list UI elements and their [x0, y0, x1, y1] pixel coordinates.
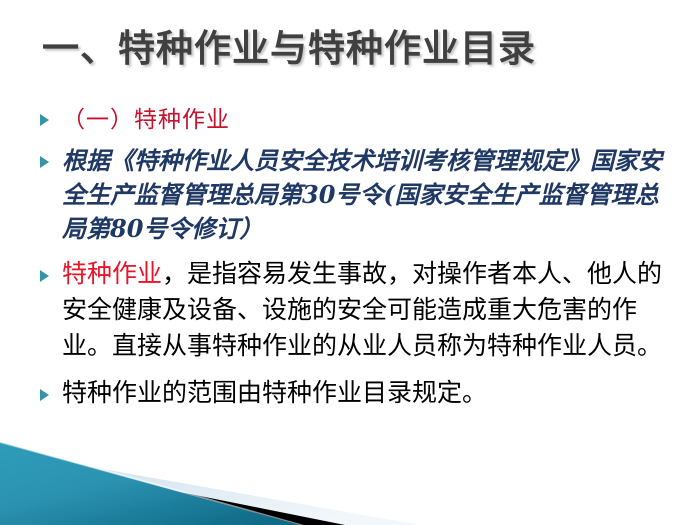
page-title: 一、特种作业与特种作业目录 [42, 26, 662, 72]
triangle-bullet-icon [40, 114, 49, 126]
scope-note-text: 特种作业的范围由特种作业目录规定。 [62, 379, 487, 407]
regulation-citation-text: 根据《特种作业人员安全技术培训考核管理规定》国家安全生产监督管理总局第30号令(… [62, 144, 662, 246]
triangle-bullet-icon [40, 270, 49, 282]
teal-edge-highlight [0, 440, 304, 525]
list-item: 根据《特种作业人员安全技术培训考核管理规定》国家安全生产监督管理总局第30号令(… [0, 144, 700, 246]
definition-emphasis: 特种作业 [62, 260, 162, 288]
black-diagonal-stripe [0, 456, 345, 525]
list-item: 特种作业的范围由特种作业目录规定。 [0, 376, 700, 410]
definition-text: 特种作业，是指容易发生事故，对操作者本人、他人的安全健康及设备、设施的安全可能造… [62, 256, 676, 364]
slide-canvas: 一、特种作业与特种作业目录 （一）特种作业 根据《特种作业人员安全技术培训考核管… [0, 0, 700, 525]
list-item: （一）特种作业 [0, 104, 700, 134]
section-heading-text: （一）特种作业 [62, 106, 230, 132]
diagonal-bands-graphic [0, 415, 700, 525]
triangle-bullet-icon [40, 156, 49, 168]
triangle-bullet-icon [40, 389, 49, 401]
slide-body: （一）特种作业 根据《特种作业人员安全技术培训考核管理规定》国家安全生产监督管理… [0, 104, 700, 424]
list-item: 特种作业，是指容易发生事故，对操作者本人、他人的安全健康及设备、设施的安全可能造… [0, 256, 700, 364]
teal-wedge [0, 442, 300, 525]
pale-blue-wedge [0, 451, 420, 525]
footer-decoration [0, 415, 700, 525]
